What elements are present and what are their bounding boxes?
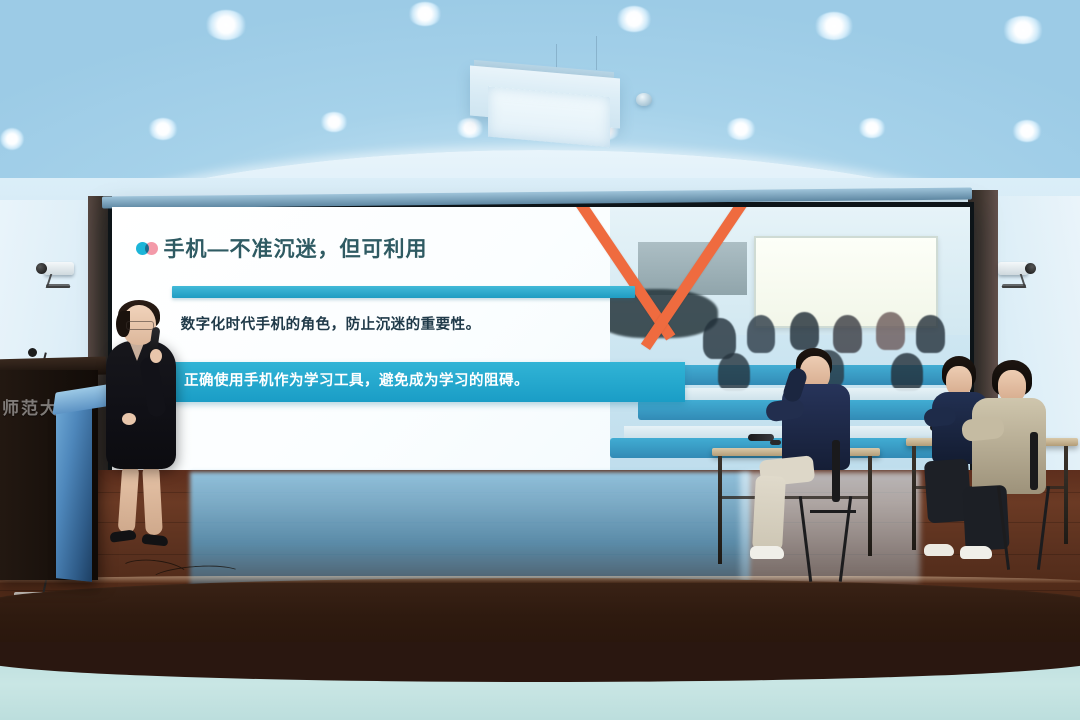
student-shoe [750, 546, 784, 559]
projector-hanger-wire [596, 36, 597, 70]
recessed-downlight [726, 118, 756, 140]
photo-student [876, 312, 905, 350]
recessed-downlight [858, 118, 886, 138]
recessed-downlight [814, 12, 854, 40]
camera-lens-icon [1025, 263, 1036, 274]
recessed-downlight [1012, 120, 1042, 142]
presenter-hand [122, 413, 136, 425]
presenter-glasses [126, 321, 154, 330]
recessed-downlight [456, 118, 484, 138]
podium-mic-head [28, 348, 37, 357]
recessed-downlight [0, 128, 24, 150]
presenter-shoe [142, 534, 169, 547]
seated-student-1 [772, 348, 882, 578]
camera-mount [1002, 284, 1026, 288]
slide-title: 手机—不准沉迷，但可利用 [163, 233, 427, 263]
bullet-circle-pink-icon [145, 242, 158, 255]
camera-mount [46, 284, 70, 288]
photo-student [891, 353, 923, 391]
recessed-downlight [320, 112, 348, 132]
smoke-detector [636, 93, 652, 106]
student-leg [752, 475, 786, 550]
seated-student-3 [974, 360, 1070, 576]
wall-camera-left [44, 262, 74, 275]
photo-blackboard [638, 242, 746, 295]
photo-student [916, 315, 945, 353]
slide-body-text: 数字化时代手机的角色，防止沉迷的重要性。 [181, 315, 679, 336]
recessed-downlight [408, 2, 442, 26]
presenter-leg [142, 465, 163, 536]
recessed-downlight [616, 6, 652, 32]
slide-bullet-icon [136, 242, 162, 255]
house-floor [0, 660, 1080, 720]
photo-projection-board [754, 236, 938, 328]
stage-lip [0, 576, 1080, 583]
recessed-downlight [1002, 16, 1044, 44]
slide-highlight-box: 正确使用手机作为学习工具，避免成为学习的阻碍。 [172, 362, 685, 402]
photo-student [718, 353, 750, 391]
podium-side-panel [56, 398, 92, 582]
presenter-shoe [109, 529, 136, 543]
presenter [100, 305, 192, 560]
student-shoe [924, 544, 954, 556]
ceiling-air-diffuser-face [488, 87, 610, 148]
wall-camera-right [998, 262, 1028, 275]
slide-accent-bar [172, 286, 635, 298]
presenter-hand [150, 349, 162, 363]
presenter-leg [118, 464, 140, 533]
student-shoe [960, 546, 992, 559]
photo-student [790, 312, 819, 350]
recessed-downlight [148, 118, 178, 140]
camera-lens-icon [36, 263, 47, 274]
photo-scene: 手机—不准沉迷，但可利用 数字化时代手机的角色，防止沉迷的重要性。 正确使用手机… [0, 0, 1080, 720]
recessed-downlight [205, 10, 247, 40]
